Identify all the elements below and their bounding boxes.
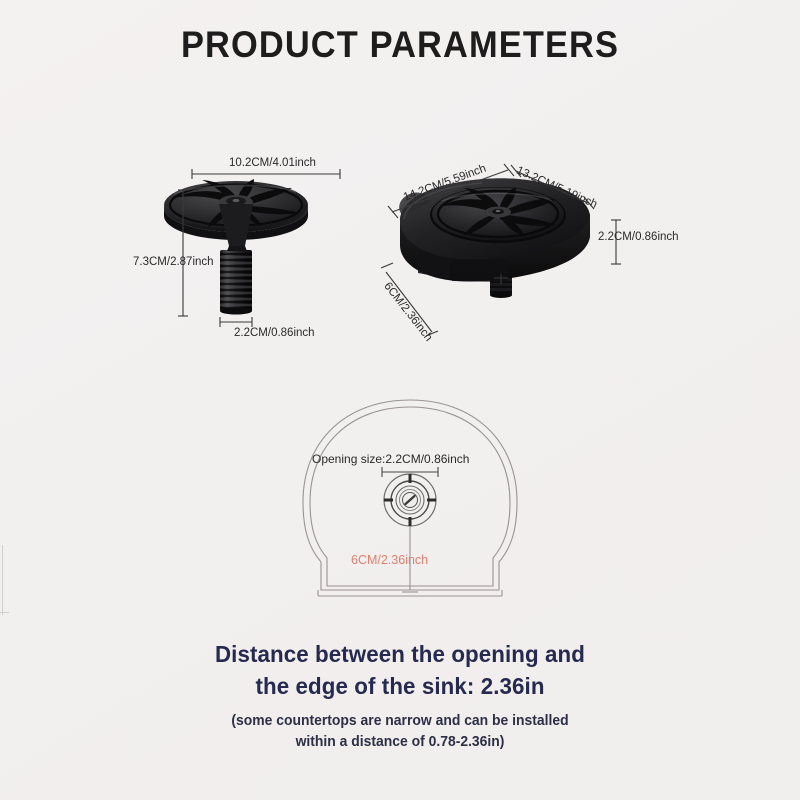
dim-left-width: 10.2CM/4.01inch bbox=[229, 157, 316, 169]
dim-left-height: 7.3CM/2.87inch bbox=[133, 256, 214, 268]
footer-headline-line1: Distance between the opening and bbox=[12, 641, 788, 668]
edge-artifact-line bbox=[2, 545, 3, 615]
dim-left-stem: 2.2CM/0.86inch bbox=[234, 327, 315, 339]
footer-headline-line2: the edge of the sink: 2.36in bbox=[12, 673, 788, 700]
infographic-canvas: PRODUCT PARAMETERS bbox=[0, 0, 800, 800]
opening-graphic bbox=[384, 474, 436, 526]
footer-note-line2: within a distance of 0.78-2.36in) bbox=[16, 734, 784, 750]
edge-artifact-foot bbox=[0, 612, 9, 613]
dimension-lines-left-product bbox=[150, 150, 380, 350]
dim-right-thickness: 2.2CM/0.86inch bbox=[598, 231, 679, 243]
footer-note-line1: (some countertops are narrow and can be … bbox=[16, 713, 784, 729]
sink-opening-diagram bbox=[285, 390, 535, 620]
edge-distance-label: 6CM/2.36inch bbox=[351, 553, 428, 567]
page-title: PRODUCT PARAMETERS bbox=[28, 24, 772, 66]
opening-size-label: Opening size:2.2CM/0.86inch bbox=[312, 452, 469, 466]
